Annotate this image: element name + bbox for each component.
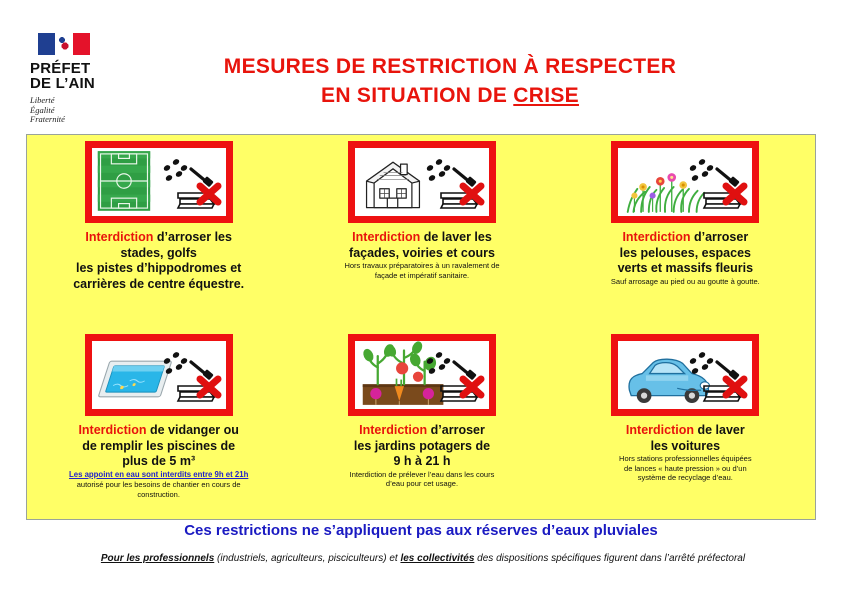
sprinkler-nozzle-icon (423, 345, 485, 405)
caption-note-line: autorisé pour les besoins de chantier en… (33, 480, 284, 490)
headline-rest: de laver les (420, 230, 492, 244)
headline-rest: d’arroser (427, 423, 485, 437)
title-line-2-prefix: EN SITUATION DE (321, 84, 513, 107)
caption-note-line: d’eau pour cet usage. (296, 479, 547, 489)
interdiction-keyword: Interdiction (626, 423, 694, 437)
headline-rest: de vidanger ou (147, 423, 239, 437)
caption-note-line: Sauf arrosage au pied ou au goutte à gou… (560, 277, 811, 287)
professionals-mid: (industriels, agriculteurs, pisciculteur… (214, 553, 400, 564)
interdiction-keyword: Interdiction (359, 423, 427, 437)
republic-motto: Liberté Égalité Fraternité (30, 96, 125, 125)
pictogram-frame-voitures (611, 334, 759, 416)
page-header: PRÉFET DE L’AIN Liberté Égalité Fraterni… (0, 0, 842, 130)
professionals-bold-1: Pour les professionnels (101, 553, 214, 564)
french-flag-icon (38, 33, 90, 55)
interdiction-keyword: Interdiction (352, 230, 420, 244)
sprinkler-nozzle-icon (686, 152, 748, 212)
no-watering-symbol (686, 345, 748, 405)
caption-line: 9 h à 21 h (296, 454, 547, 470)
restrictions-grid: Interdiction d’arroser lesstades, golfsl… (27, 135, 817, 521)
sprinkler-nozzle-icon (423, 152, 485, 212)
page-title: MESURES DE RESTRICTION À RESPECTER EN SI… (150, 52, 750, 110)
caption-piscines: Interdiction de vidanger oude remplir le… (27, 423, 290, 499)
sprinkler-nozzle-icon (160, 345, 222, 405)
caption-line: les pelouses, espaces (560, 246, 811, 262)
flag-red-band (73, 33, 90, 55)
caption-line: de remplir les piscines de (33, 439, 284, 455)
caption-headline: Interdiction de laver les (296, 230, 547, 246)
authority-line-2: DE L’AIN (30, 76, 125, 91)
professionals-note: Pour les professionnels (industriels, ag… (28, 552, 818, 566)
headline-rest: d’arroser les (153, 230, 232, 244)
no-watering-symbol (160, 345, 222, 405)
restriction-panel-piscines: Interdiction de vidanger oude remplir le… (27, 328, 290, 521)
title-line-1: MESURES DE RESTRICTION À RESPECTER (150, 52, 750, 81)
caption-line: les pistes d’hippodromes et (33, 261, 284, 277)
professionals-end: des dispositions spécifiques figurent da… (474, 553, 745, 564)
flag-white-band-marianne (55, 33, 73, 55)
interdiction-keyword: Interdiction (622, 230, 690, 244)
house-icon (359, 154, 427, 214)
caption-line: stades, golfs (33, 246, 284, 262)
interdiction-keyword: Interdiction (78, 423, 146, 437)
caption-headline: Interdiction d’arroser (296, 423, 547, 439)
caption-note-line: Hors stations professionnelles équipées (560, 454, 811, 464)
caption-headline: Interdiction de laver (560, 423, 811, 439)
caption-note-line: système de recyclage d’eau. (560, 473, 811, 483)
football-pitch-icon (96, 148, 152, 214)
caption-line: les voitures (560, 439, 811, 455)
pictogram-frame-stades-golfs (85, 141, 233, 223)
caption-line: les jardins potagers de (296, 439, 547, 455)
caption-headline: Interdiction de vidanger ou (33, 423, 284, 439)
restriction-panel-pelouses-espaces-verts: Interdiction d’arroserles pelouses, espa… (554, 135, 817, 328)
headline-rest: de laver (694, 423, 745, 437)
caption-voitures: Interdiction de laverles voituresHors st… (554, 423, 817, 483)
sprinkler-nozzle-icon (160, 152, 222, 212)
caption-line: carrières de centre équestre. (33, 277, 284, 293)
restriction-panel-voitures: Interdiction de laverles voituresHors st… (554, 328, 817, 521)
restriction-panel-jardins-potagers: Interdiction d’arroserles jardins potage… (290, 328, 553, 521)
motto-fraternite: Fraternité (30, 115, 125, 125)
caption-line: façades, voiries et cours (296, 246, 547, 262)
pictogram-frame-pelouses-espaces-verts (611, 141, 759, 223)
title-line-2: EN SITUATION DE CRISE (150, 81, 750, 110)
caption-line: plus de 5 m³ (33, 454, 284, 470)
caption-line: verts et massifs fleuris (560, 261, 811, 277)
caption-note-line: de lances « haute pression » ou d’un (560, 464, 811, 474)
caption-note-line: Interdiction de prélever l’eau dans les … (296, 470, 547, 480)
caption-headline: Interdiction d’arroser les (33, 230, 284, 246)
rainwater-note: Ces restrictions ne s’appliquent pas aux… (0, 522, 842, 539)
caption-headline: Interdiction d’arroser (560, 230, 811, 246)
flag-blue-band (38, 33, 55, 55)
pictogram-frame-facades-voiries (348, 141, 496, 223)
no-watering-symbol (423, 345, 485, 405)
caption-note-line: Hors travaux préparatoires à un ravaleme… (296, 261, 547, 271)
caption-jardins-potagers: Interdiction d’arroserles jardins potage… (290, 423, 553, 489)
caption-highlight-line[interactable]: Les appoint en eau sont interdits entre … (33, 470, 284, 481)
caption-stades-golfs: Interdiction d’arroser lesstades, golfsl… (27, 230, 290, 292)
restriction-panel-facades-voiries: Interdiction de laver lesfaçades, voirie… (290, 135, 553, 328)
interdiction-keyword: Interdiction (85, 230, 153, 244)
no-watering-symbol (686, 152, 748, 212)
authority-line-1: PRÉFET (30, 61, 125, 76)
restrictions-board: Interdiction d’arroser lesstades, golfsl… (26, 134, 816, 520)
sprinkler-nozzle-icon (686, 345, 748, 405)
professionals-bold-2: les collectivités (400, 553, 474, 564)
headline-rest: d’arroser (691, 230, 749, 244)
caption-facades-voiries: Interdiction de laver lesfaçades, voirie… (290, 230, 553, 280)
no-watering-symbol (160, 152, 222, 212)
caption-note-line: construction. (33, 490, 284, 500)
pictogram-frame-piscines (85, 334, 233, 416)
no-watering-symbol (423, 152, 485, 212)
title-line-2-keyword: CRISE (513, 84, 579, 107)
restriction-panel-stades-golfs: Interdiction d’arroser lesstades, golfsl… (27, 135, 290, 328)
caption-note-line: façade et impératif sanitaire. (296, 271, 547, 281)
caption-pelouses-espaces-verts: Interdiction d’arroserles pelouses, espa… (554, 230, 817, 286)
pictogram-frame-jardins-potagers (348, 334, 496, 416)
prefecture-logo: PRÉFET DE L’AIN Liberté Égalité Fraterni… (30, 33, 125, 125)
